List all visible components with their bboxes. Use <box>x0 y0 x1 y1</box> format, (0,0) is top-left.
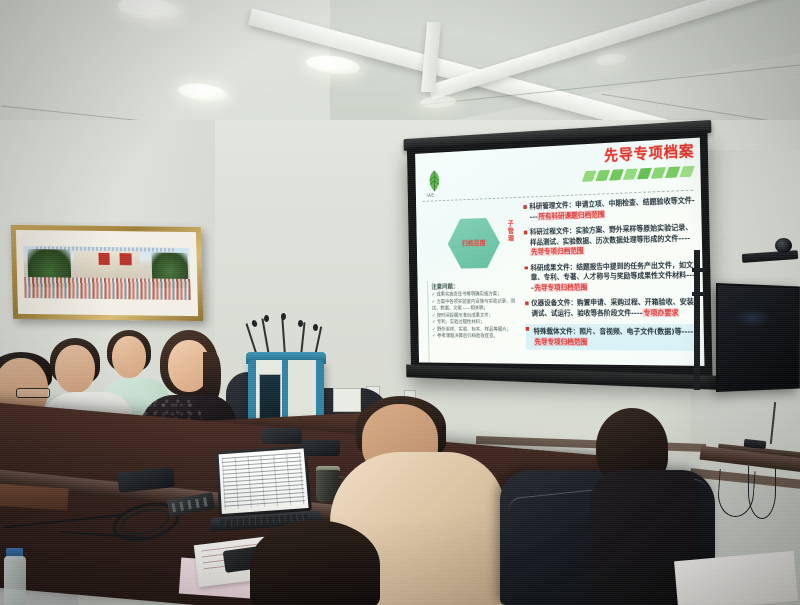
spreadsheet-rows <box>222 452 305 510</box>
slide-hexagon-graphic: 归档范围 <box>447 216 500 269</box>
water-bottle <box>4 556 26 605</box>
bullet-highlight: 先导专项归档范围 <box>534 282 588 291</box>
stripe <box>637 168 652 179</box>
eyeglasses-icon <box>16 388 50 398</box>
bullet-highlight: 所有科研课题归档范围 <box>538 209 606 220</box>
tv-mount-bracket <box>692 268 705 272</box>
bullet-text: 科研过程文件：实验方案、野外采样等原始实验记录、样品测试、实验数据、历次数据处理… <box>530 223 693 247</box>
head <box>112 336 146 378</box>
power-strip-sockets <box>172 497 211 512</box>
stripe <box>609 169 624 180</box>
microphone-head-icon <box>281 313 286 320</box>
slide-bullet: 科研管理文件：申请立项、中期检查、结题验收等文件----所有科研课题归档范围 <box>523 196 695 223</box>
note-item: ✓ 参考课题决算后归档验收查查。 <box>432 333 516 340</box>
wooden-block <box>0 483 69 510</box>
tv-mount-bracket <box>692 292 705 296</box>
hair <box>250 520 380 605</box>
photo-flag-icon <box>120 253 132 265</box>
tv-screen-glow <box>733 308 770 327</box>
slide-bullet: 科研过程文件：实验方案、野外采样等原始实验记录、样品测试、实验数据、历次数据处理… <box>524 222 697 257</box>
hexagon-side-label: 子管理 <box>506 220 515 243</box>
papers-right <box>674 551 798 605</box>
screen-frame: 先导专项档案 IAE <box>407 130 713 380</box>
wall-control-panel <box>333 388 361 412</box>
slide-title: 先导专项档案 <box>604 140 695 165</box>
bullet-highlight: 先导专项归档范围 <box>534 337 588 346</box>
slide-notes-panel: 注意问题： ✓ 成果实施责任书等明确实施方案； ✓ 方案中各项实验室内设施与实验… <box>427 280 517 366</box>
leaf-logo-icon <box>425 169 443 194</box>
framed-group-photo <box>11 225 204 321</box>
slide-bullet: 特殊载体文件：照片、音视频、电子文件(数据)等----先导专项归档范围 <box>526 324 699 351</box>
slide-bullet: 仪器设备文件：购置申请、采购过程、开箱验收、安装调试、试运行、验收等各阶段文件-… <box>525 297 698 318</box>
microphone-head-icon <box>298 320 303 327</box>
note-item: ✓ 专利、实验过程性材料； <box>432 319 516 326</box>
stripe <box>651 167 666 179</box>
laptop-screen[interactable] <box>219 448 309 514</box>
stripe <box>582 171 597 182</box>
camera-lens-icon <box>775 238 792 253</box>
presentation-slide: 先导专项档案 IAE <box>415 138 704 366</box>
bullet-highlight: 先导专项归档范围 <box>530 246 584 256</box>
notes-heading: 注意问题： <box>431 280 515 290</box>
laptop-lid <box>216 445 312 517</box>
slide-stripe-decoration <box>554 166 693 183</box>
microphone-head-icon <box>313 324 318 331</box>
slide-bullet-list: 科研管理文件：申请立项、中期检查、结题验收等文件----所有科研课题归档范围 科… <box>523 196 698 357</box>
stripe <box>679 166 695 178</box>
head <box>55 345 95 393</box>
conference-room-photo: 先导专项档案 IAE <box>0 0 800 605</box>
wall-display-tv <box>716 283 800 392</box>
bullet-highlight: 专项办要求 <box>642 308 679 317</box>
projector-screen: 先导专项档案 IAE <box>407 120 713 390</box>
microphone-head-icon <box>264 315 269 322</box>
logo-label: IAE <box>426 193 434 199</box>
photo-flag-icon <box>98 253 110 265</box>
stripe <box>595 170 610 181</box>
photo-mat <box>16 230 198 316</box>
note-item: ✓ 方案中各项实验室内设施与实验记录、测试、数据、文案——相关联； <box>432 298 516 312</box>
photo-image <box>23 246 190 300</box>
bullet-text: 特殊载体文件：照片、音视频、电子文件(数据)等---- <box>533 327 693 336</box>
hexagon-label: 归档范围 <box>462 238 486 248</box>
table-microphone-base <box>262 428 302 444</box>
stripe <box>623 169 638 180</box>
hanging-cable <box>748 466 776 519</box>
slide-bullet: 科研成果文件：结题报告中提到的任务产出文件，如文章、专利、专著、人才称号与奖励等… <box>524 260 697 293</box>
photo-crowd <box>24 277 190 300</box>
stripe <box>665 166 680 178</box>
